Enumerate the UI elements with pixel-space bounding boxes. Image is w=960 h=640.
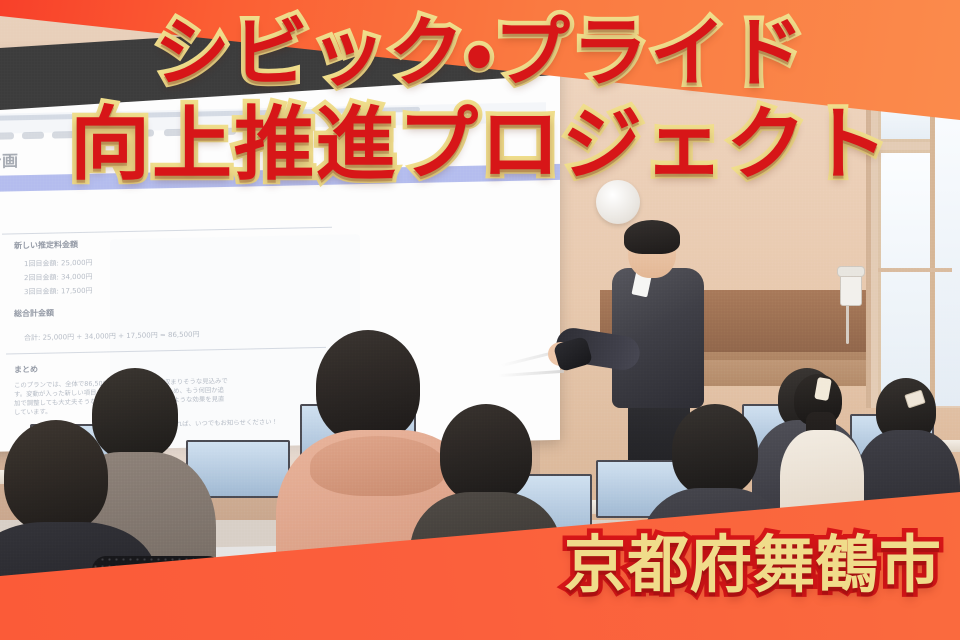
student-head [672, 404, 758, 496]
doc-bullet: 1回目金額: 25,000円 [24, 258, 93, 269]
student-head [440, 404, 532, 502]
doc-section-2-title: 総合計金額 [14, 309, 54, 320]
window-mullion [878, 268, 952, 272]
doc-section-3-title: まとめ [14, 365, 38, 376]
side-window [930, 86, 960, 406]
doc-bullet: 2回目金額: 34,000円 [24, 272, 93, 283]
student-hood [310, 436, 446, 496]
phone-cord [846, 304, 849, 344]
doc-section-1-title: 新しい推定料金額 [14, 240, 78, 251]
student-head [4, 420, 108, 532]
wall-clock-icon [596, 180, 640, 224]
student-head [316, 330, 420, 442]
page-accent-bar [0, 164, 560, 193]
promo-banner: の計画 新しい推定料金額 1回目金額: 25,000円 2回目金額: 34,00… [0, 0, 960, 640]
projected-page-heading: の計画 [0, 147, 19, 172]
projection-screen: の計画 新しい推定料金額 1回目金額: 25,000円 2回目金額: 34,00… [0, 40, 560, 452]
phone-handset-icon [837, 266, 865, 277]
student-head [92, 368, 178, 460]
presenter-hair [624, 220, 680, 254]
doc-bullet: 3回目金額: 17,500円 [24, 286, 93, 297]
